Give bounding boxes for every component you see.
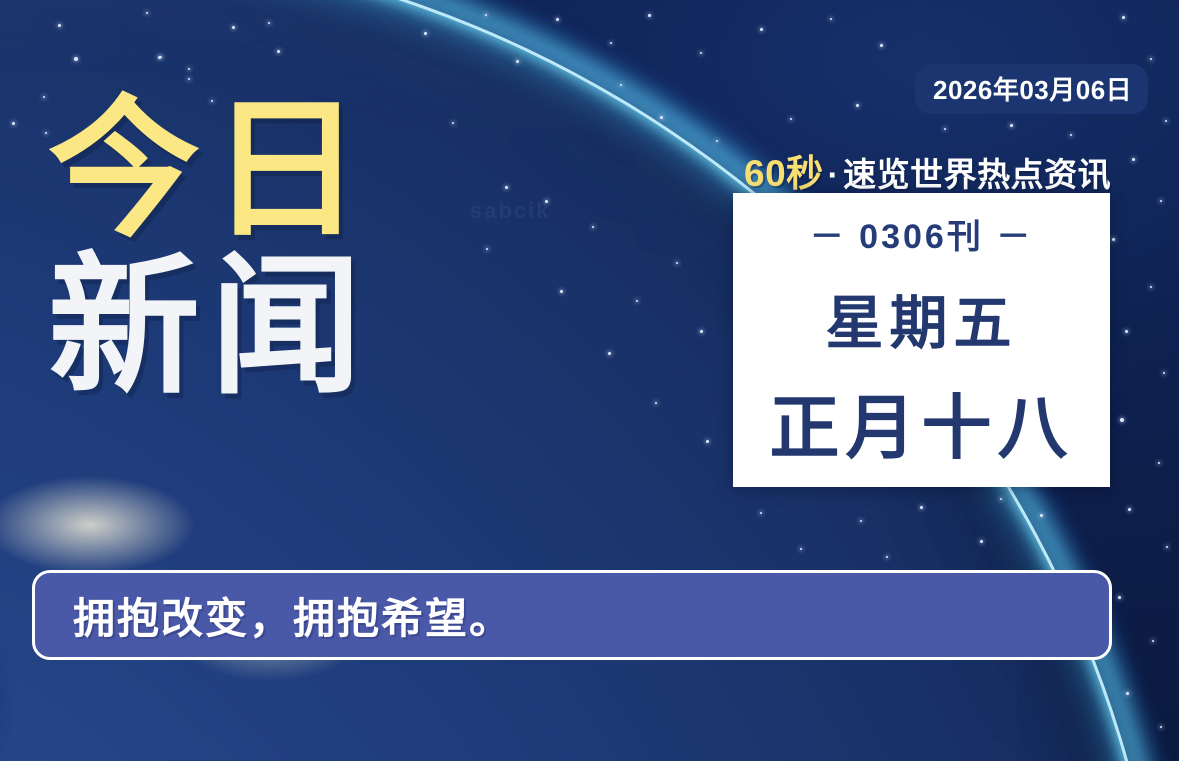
tagline-separator: · <box>828 156 840 193</box>
title-line-today: 今日 <box>48 96 372 243</box>
date-info-card: － 0306刊 － 星期五 正月十八 <box>733 193 1110 487</box>
tagline: 60秒·速览世界热点资讯 <box>744 143 1111 197</box>
slogan-banner: 拥抱改变，拥抱希望。 <box>32 570 1112 660</box>
poster-title: 今日 新闻 <box>48 96 372 401</box>
news-poster: sabcik 今日 新闻 2026年03月06日 60秒·速览世界热点资讯 － … <box>0 0 1179 761</box>
slogan-text: 拥抱改变，拥抱希望。 <box>73 585 513 646</box>
lunar-date: 正月十八 <box>770 372 1074 473</box>
issue-number: － 0306刊 － <box>810 209 1034 258</box>
date-badge: 2026年03月06日 <box>915 64 1148 114</box>
weekday-label: 星期五 <box>825 276 1017 360</box>
tagline-rest: 速览世界热点资讯 <box>843 156 1111 193</box>
background-watermark: sabcik <box>470 198 551 224</box>
title-line-news: 新闻 <box>48 253 372 400</box>
tagline-highlight: 60秒 <box>744 153 824 194</box>
